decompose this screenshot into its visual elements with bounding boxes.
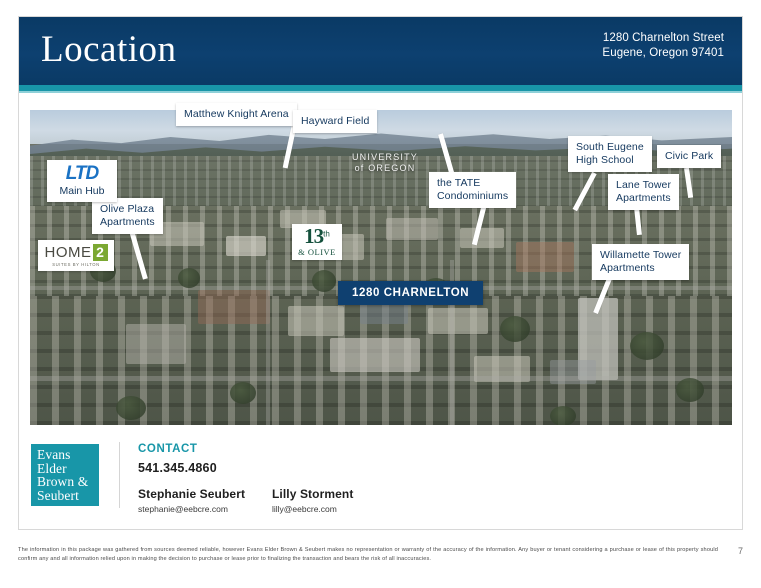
callout-matthew-knight-arena[interactable]: Matthew Knight Arena <box>176 103 297 126</box>
uo-overlay-line-1: UNIVERSITY <box>325 152 445 163</box>
tree-canopy <box>230 382 256 404</box>
header-accent-bar-light <box>19 91 742 93</box>
thirteen-number: 13 <box>304 224 323 248</box>
agent-email[interactable]: stephanie@eebcre.com <box>138 504 245 514</box>
callout-home2-suites[interactable]: HOME 2 SUITES BY HILTON <box>38 240 114 271</box>
road-line <box>30 376 732 381</box>
footer-divider <box>119 442 120 508</box>
callout-hayward-field[interactable]: Hayward Field <box>293 110 377 133</box>
tree-canopy <box>312 270 336 292</box>
callout-south-eugene-high-school[interactable]: South Eugene High School <box>568 136 652 172</box>
callout-willamette-tower-apartments[interactable]: Willamette Tower Apartments <box>592 244 689 280</box>
agent-name: Lilly Storment <box>272 487 353 501</box>
contact-heading: CONTACT <box>138 443 198 455</box>
tree-canopy <box>178 268 200 288</box>
ltd-main-hub-label: Main Hub <box>53 185 111 198</box>
olive-label: & OLIVE <box>297 248 337 257</box>
brand-line-2: Elder <box>37 462 94 476</box>
tree-canopy <box>116 396 146 420</box>
callout-lane-tower-apartments[interactable]: Lane Tower Apartments <box>608 174 679 210</box>
property-address: 1280 Charnelton Street Eugene, Oregon 97… <box>602 31 724 61</box>
agent-name: Stephanie Seubert <box>138 487 245 501</box>
building-blob <box>386 218 438 240</box>
tree-canopy <box>500 316 530 342</box>
olive-word: OLIVE <box>308 247 336 257</box>
callout-olive-plaza-apartments[interactable]: Olive Plaza Apartments <box>92 198 163 234</box>
ampersand: & <box>298 247 305 257</box>
tree-canopy <box>630 332 664 360</box>
home2-logo-icon: HOME 2 <box>44 244 108 261</box>
building-blob <box>330 338 420 372</box>
tree-canopy <box>550 406 576 425</box>
subject-property-marker[interactable]: 1280 CHARNELTON <box>338 281 483 305</box>
home2-wordmark: HOME <box>45 245 92 261</box>
contact-phone[interactable]: 541.345.4860 <box>138 461 217 475</box>
ltd-logo-icon: LTD <box>53 164 111 184</box>
address-line-2: Eugene, Oregon 97401 <box>602 46 724 61</box>
home2-tagline: SUITES BY HILTON <box>44 262 108 267</box>
home2-badge: 2 <box>93 244 108 261</box>
address-line-1: 1280 Charnelton Street <box>602 31 724 46</box>
agent-block-1: Stephanie Seubert stephanie@eebcre.com <box>138 487 245 514</box>
university-of-oregon-overlay: UNIVERSITY of OREGON <box>325 152 445 174</box>
agent-block-2: Lilly Storment lilly@eebcre.com <box>272 487 353 514</box>
page-header: Location 1280 Charnelton Street Eugene, … <box>19 17 742 85</box>
brand-line-3: Brown & <box>37 475 94 489</box>
building-blob <box>288 306 344 336</box>
callout-civic-park[interactable]: Civic Park <box>657 145 721 168</box>
agent-email[interactable]: lilly@eebcre.com <box>272 504 353 514</box>
legal-disclaimer: The information in this package was gath… <box>18 546 718 564</box>
page-number: 7 <box>738 546 743 556</box>
callout-ltd-main-hub[interactable]: LTD Main Hub <box>47 160 117 202</box>
page-title: Location <box>41 25 177 75</box>
brand-line-1: Evans <box>37 448 94 462</box>
thirteenth-logo-icon: 13th <box>297 227 337 248</box>
building-blob <box>198 290 270 324</box>
building-blob <box>460 228 504 248</box>
uo-overlay-line-2: of OREGON <box>325 163 445 174</box>
company-logo: Evans Elder Brown & Seubert COMMERCIAL R… <box>31 444 99 506</box>
road-line <box>266 260 270 425</box>
building-blob <box>126 324 186 364</box>
building-blob <box>428 308 488 334</box>
callout-the-tate-condominiums[interactable]: the TATE Condominiums <box>429 172 516 208</box>
building-blob <box>516 242 574 272</box>
building-blob <box>226 236 266 256</box>
brand-line-4: Seubert <box>37 489 94 503</box>
thirteen-ordinal: th <box>323 230 330 239</box>
tree-canopy <box>676 378 704 402</box>
document-page: Location 1280 Charnelton Street Eugene, … <box>0 0 761 588</box>
brand-tagline: COMMERCIAL REAL ESTATE <box>37 505 94 515</box>
callout-13th-and-olive[interactable]: 13th & OLIVE <box>292 224 342 260</box>
brand-name: Evans Elder Brown & Seubert <box>37 448 94 502</box>
